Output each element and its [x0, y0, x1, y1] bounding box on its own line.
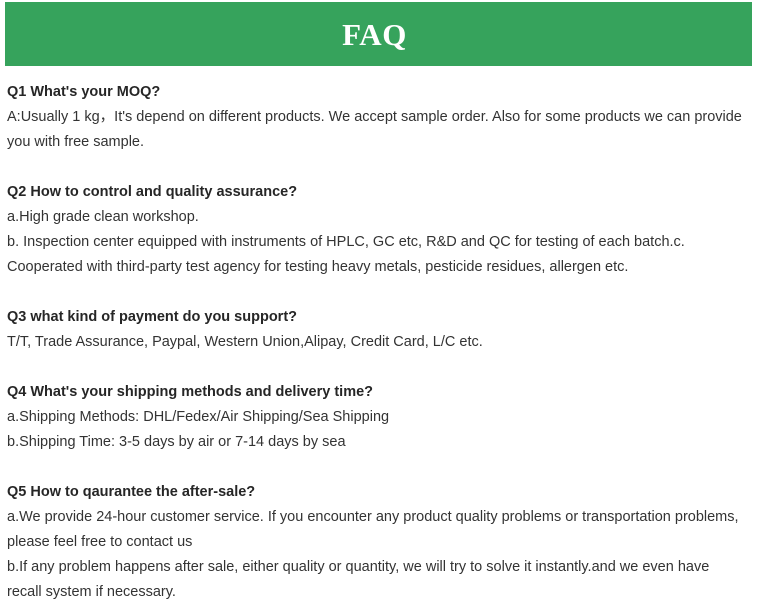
- faq-question-q3: Q3 what kind of payment do you support?: [7, 305, 750, 330]
- faq-banner: FAQ: [5, 2, 752, 66]
- faq-answer-q2-a: a.High grade clean workshop.: [7, 205, 747, 230]
- faq-spacer-3: [7, 355, 750, 380]
- faq-item-q1: Q1 What's your MOQ? A:Usually 1 kg，It's …: [7, 80, 750, 155]
- faq-answer-q2-b: b. Inspection center equipped with instr…: [7, 230, 747, 280]
- faq-answer-q1: A:Usually 1 kg，It's depend on different …: [7, 105, 747, 155]
- faq-question-q4: Q4 What's your shipping methods and deli…: [7, 380, 750, 405]
- faq-spacer-1: [7, 155, 750, 180]
- faq-spacer-2: [7, 280, 750, 305]
- faq-answer-q4-a: a.Shipping Methods: DHL/Fedex/Air Shippi…: [7, 405, 747, 430]
- faq-item-q3: Q3 what kind of payment do you support? …: [7, 305, 750, 355]
- faq-answer-q5-b: b.If any problem happens after sale, eit…: [7, 555, 747, 605]
- faq-spacer-4: [7, 455, 750, 480]
- faq-banner-title: FAQ: [342, 19, 407, 50]
- faq-answer-q4-b: b.Shipping Time: 3-5 days by air or 7-14…: [7, 430, 747, 455]
- faq-answer-q5-a: a.We provide 24-hour customer service. I…: [7, 505, 747, 555]
- faq-item-q5: Q5 How to qaurantee the after-sale? a.We…: [7, 480, 750, 605]
- faq-question-q2: Q2 How to control and quality assurance?: [7, 180, 750, 205]
- faq-item-q4: Q4 What's your shipping methods and deli…: [7, 380, 750, 455]
- faq-item-q2: Q2 How to control and quality assurance?…: [7, 180, 750, 280]
- faq-question-q1: Q1 What's your MOQ?: [7, 80, 750, 105]
- faq-answer-q3: T/T, Trade Assurance, Paypal, Western Un…: [7, 330, 747, 355]
- faq-page: FAQ Q1 What's your MOQ? A:Usually 1 kg，I…: [0, 0, 757, 612]
- faq-question-q5: Q5 How to qaurantee the after-sale?: [7, 480, 750, 505]
- faq-content: Q1 What's your MOQ? A:Usually 1 kg，It's …: [0, 66, 757, 605]
